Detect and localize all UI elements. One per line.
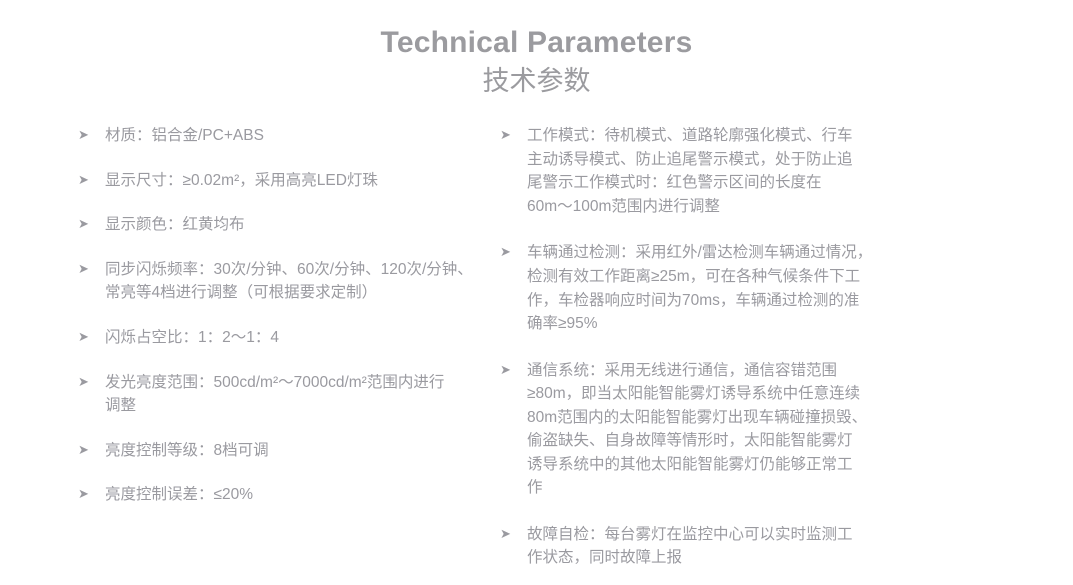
- parameters-left-column: ➤ 材质：铝合金/PC+ABS ➤ 显示尺寸：≥0.02m²，采用高亮LED灯珠…: [0, 124, 500, 570]
- technical-parameters-page: Technical Parameters 技术参数 ➤ 材质：铝合金/PC+AB…: [0, 0, 1073, 585]
- list-item: ➤ 发光亮度范围：500cd/m²～7000cd/m²范围内进行 调整: [78, 371, 492, 418]
- list-item: ➤ 工作模式：待机模式、道路轮廓强化模式、行车 主动诱导模式、防止追尾警示模式，…: [500, 124, 1013, 218]
- arrow-bullet-icon: ➤: [78, 326, 96, 348]
- list-item-text: 显示颜色：红黄均布: [105, 213, 492, 237]
- list-item-text: 显示尺寸：≥0.02m²，采用高亮LED灯珠: [105, 169, 492, 193]
- right-bullet-list: ➤ 工作模式：待机模式、道路轮廓强化模式、行车 主动诱导模式、防止追尾警示模式，…: [500, 124, 1013, 570]
- list-item-text: 闪烁占空比：1：2～1：4: [105, 326, 492, 350]
- list-item: ➤ 亮度控制等级：8档可调: [78, 439, 492, 463]
- arrow-bullet-icon: ➤: [500, 124, 518, 146]
- parameters-columns: ➤ 材质：铝合金/PC+ABS ➤ 显示尺寸：≥0.02m²，采用高亮LED灯珠…: [0, 124, 1073, 570]
- page-title-english: Technical Parameters: [0, 26, 1073, 61]
- list-item: ➤ 通信系统：采用无线进行通信，通信容错范围 ≥80m，即当太阳能智能雾灯诱导系…: [500, 359, 1013, 500]
- list-item-text: 同步闪烁频率：30次/分钟、60次/分钟、120次/分钟、 常亮等4档进行调整（…: [105, 258, 492, 305]
- arrow-bullet-icon: ➤: [78, 258, 96, 280]
- arrow-bullet-icon: ➤: [500, 359, 518, 381]
- left-bullet-list: ➤ 材质：铝合金/PC+ABS ➤ 显示尺寸：≥0.02m²，采用高亮LED灯珠…: [78, 124, 492, 506]
- arrow-bullet-icon: ➤: [78, 483, 96, 505]
- parameters-right-column: ➤ 工作模式：待机模式、道路轮廓强化模式、行车 主动诱导模式、防止追尾警示模式，…: [500, 124, 1073, 570]
- page-title-chinese: 技术参数: [0, 65, 1073, 99]
- arrow-bullet-icon: ➤: [78, 213, 96, 235]
- arrow-bullet-icon: ➤: [78, 124, 96, 146]
- list-item: ➤ 显示尺寸：≥0.02m²，采用高亮LED灯珠: [78, 169, 492, 193]
- list-item-text: 故障自检：每台雾灯在监控中心可以实时监测工 作状态，同时故障上报: [527, 523, 1013, 570]
- list-item: ➤ 闪烁占空比：1：2～1：4: [78, 326, 492, 350]
- arrow-bullet-icon: ➤: [500, 523, 518, 545]
- list-item: ➤ 车辆通过检测：采用红外/雷达检测车辆通过情况， 检测有效工作距离≥25m，可…: [500, 241, 1013, 335]
- list-item: ➤ 显示颜色：红黄均布: [78, 213, 492, 237]
- page-header: Technical Parameters 技术参数: [0, 0, 1073, 98]
- list-item-text: 亮度控制误差：≤20%: [105, 483, 492, 507]
- list-item: ➤ 同步闪烁频率：30次/分钟、60次/分钟、120次/分钟、 常亮等4档进行调…: [78, 258, 492, 305]
- list-item-text: 发光亮度范围：500cd/m²～7000cd/m²范围内进行 调整: [105, 371, 492, 418]
- list-item: ➤ 亮度控制误差：≤20%: [78, 483, 492, 507]
- list-item-text: 亮度控制等级：8档可调: [105, 439, 492, 463]
- arrow-bullet-icon: ➤: [78, 439, 96, 461]
- arrow-bullet-icon: ➤: [500, 241, 518, 263]
- list-item-text: 材质：铝合金/PC+ABS: [105, 124, 492, 148]
- list-item-text: 车辆通过检测：采用红外/雷达检测车辆通过情况， 检测有效工作距离≥25m，可在各…: [527, 241, 1013, 335]
- list-item: ➤ 故障自检：每台雾灯在监控中心可以实时监测工 作状态，同时故障上报: [500, 523, 1013, 570]
- arrow-bullet-icon: ➤: [78, 169, 96, 191]
- list-item-text: 工作模式：待机模式、道路轮廓强化模式、行车 主动诱导模式、防止追尾警示模式，处于…: [527, 124, 1013, 218]
- list-item: ➤ 材质：铝合金/PC+ABS: [78, 124, 492, 148]
- list-item-text: 通信系统：采用无线进行通信，通信容错范围 ≥80m，即当太阳能智能雾灯诱导系统中…: [527, 359, 1013, 500]
- arrow-bullet-icon: ➤: [78, 371, 96, 393]
